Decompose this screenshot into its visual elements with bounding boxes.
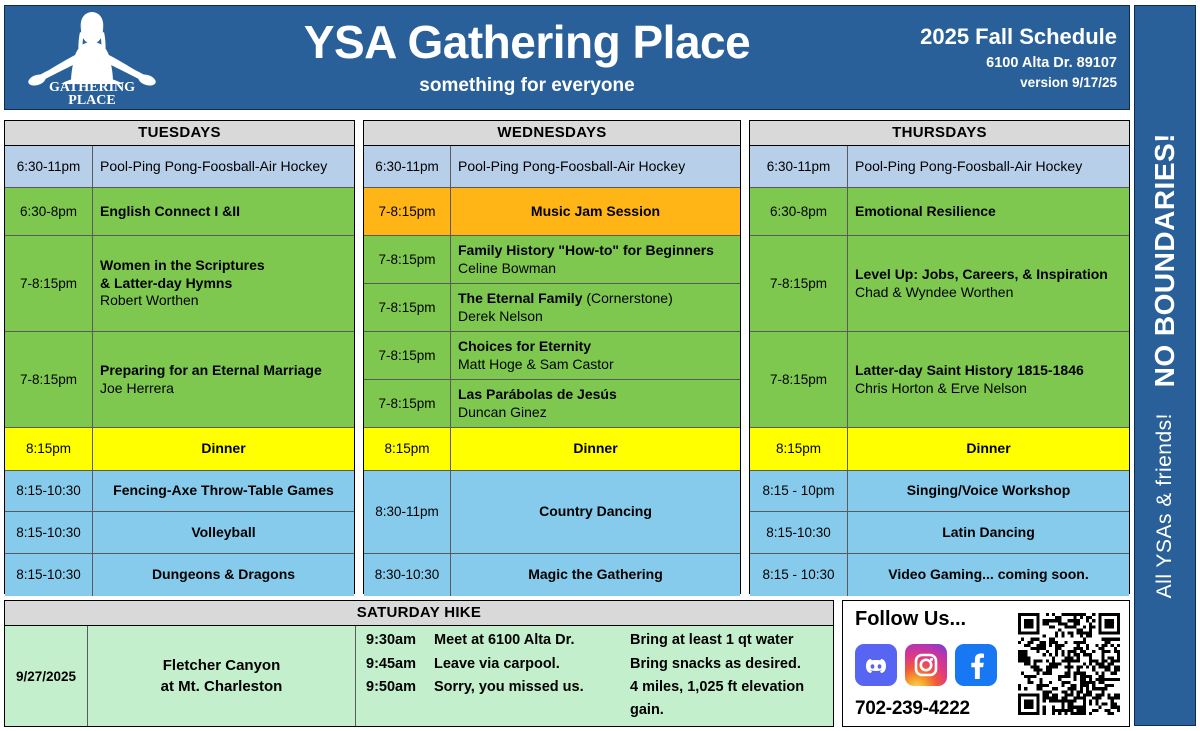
ysa-gathering-place-logo-icon: YSA GATHERING PLACE [27,8,157,108]
phone-number: 702-239-4222 [855,698,1015,720]
poster-header: YSA GATHERING PLACE YSA Gathering Place … [4,5,1130,110]
schedule-row-title: Volleyball [191,524,255,542]
hike-note-row: 9:50amSorry, you missed us.4 miles, 1,02… [366,676,827,723]
schedule-row-body: Dinner [451,428,740,470]
schedule-row-body: Preparing for an Eternal MarriageJoe Her… [93,332,354,427]
page-title: YSA Gathering Place [165,18,889,66]
header-meta: 2025 Fall Schedule 6100 Alta Dr. 89107 v… [899,23,1129,92]
schedule-row: 7-8:15pmThe Eternal Family (Cornerstone)… [364,284,740,332]
schedule-row-time: 6:30-11pm [750,146,848,187]
schedule-row-time: 8:15pm [5,428,93,470]
schedule-row-time: 7-8:15pm [5,236,93,331]
schedule-row-body: Volleyball [93,512,354,553]
schedule-row: 7-8:15pmLevel Up: Jobs, Careers, & Inspi… [750,236,1129,332]
schedule-row-title: Pool-Ping Pong-Foosball-Air Hockey [855,158,1122,176]
schedule-row-presenter: Robert Worthen [100,292,347,310]
follow-us-box: Follow Us... 702-239-4222 [842,600,1130,727]
hike-note-extra: Bring at least 1 qt water [630,629,827,652]
schedule-row: 8:15 - 10pmSinging/Voice Workshop [750,471,1129,512]
schedule-row: 8:15pmDinner [5,428,354,471]
schedule-row-time: 7-8:15pm [364,380,451,427]
version-text: version 9/17/25 [899,75,1117,92]
qr-code[interactable] [1015,613,1123,715]
schedule-row: 7-8:15pmLatter-day Saint History 1815-18… [750,332,1129,428]
schedule-row-title: Level Up: Jobs, Careers, & Inspiration [855,266,1122,284]
schedule-row-title-suffix: (Cornerstone) [582,290,672,306]
schedule-row-time: 8:15-10:30 [750,512,848,553]
schedule-row-time: 7-8:15pm [5,332,93,427]
schedule-row-time: 7-8:15pm [364,188,451,235]
schedule-row-presenter: Duncan Ginez [458,404,733,422]
schedule-row: 7-8:15pmLas Parábolas de JesúsDuncan Gin… [364,380,740,428]
hike-note-row: 9:30amMeet at 6100 Alta Dr.Bring at leas… [366,629,827,652]
schedule-row-time: 7-8:15pm [750,236,848,331]
schedule-row-body: Las Parábolas de JesúsDuncan Ginez [451,380,740,427]
schedule-row-body: Video Gaming... coming soon. [848,554,1129,596]
hike-note-text: Sorry, you missed us. [434,676,630,723]
day-header-thursdays: THURSDAYS [750,121,1129,146]
schedule-row-body: Choices for EternityMatt Hoge & Sam Cast… [451,332,740,379]
logo: YSA GATHERING PLACE [5,6,165,109]
schedule-row: 8:15 - 10:30Video Gaming... coming soon. [750,554,1129,596]
schedule-row-time: 8:15 - 10:30 [750,554,848,596]
page-subtitle: something for everyone [165,75,889,97]
schedule-poster: YSA GATHERING PLACE YSA Gathering Place … [0,0,1200,731]
schedule-row-title: Country Dancing [539,503,652,521]
schedule-row-title: Music Jam Session [531,203,660,221]
hike-header: SATURDAY HIKE [5,601,833,626]
schedule-row-title: Latter-day Saint History 1815-1846 [855,362,1122,380]
schedule-row-body: Pool-Ping Pong-Foosball-Air Hockey [848,146,1129,187]
day-column-tuesdays: TUESDAYS 6:30-11pmPool-Ping Pong-Foosbal… [4,120,355,594]
schedule-row-title: Pool-Ping Pong-Foosball-Air Hockey [458,158,733,176]
hike-note-time: 9:30am [366,629,434,652]
side-banner: NO BOUNDARIES! All YSAs & friends! [1134,5,1196,726]
schedule-row: 6:30-11pmPool-Ping Pong-Foosball-Air Hoc… [364,146,740,188]
schedule-row-title: Las Parábolas de Jesús [458,386,733,404]
schedule-row-time: 7-8:15pm [364,284,451,331]
schedule-row: 7-8:15pmFamily History "How-to" for Begi… [364,236,740,284]
hike-date: 9/27/2025 [5,626,88,726]
qr-code-icon [1018,613,1120,715]
schedule-row-body: Magic the Gathering [451,554,740,596]
hike-note-text: Leave via carpool. [434,653,630,676]
schedule-row-title: Dinner [201,440,245,458]
hike-location-line1: Fletcher Canyon [163,655,281,676]
schedule-row-title: Family History "How-to" for Beginners [458,242,733,260]
schedule-row-time: 7-8:15pm [750,332,848,427]
schedule-row-title: Choices for Eternity [458,338,733,356]
schedule-row: 8:15-10:30Fencing-Axe Throw-Table Games [5,471,354,512]
schedule-row: 8:30-11pmCountry Dancing [364,471,740,554]
schedule-row-body: Country Dancing [451,471,740,553]
schedule-row-time: 8:15pm [750,428,848,470]
day-columns: TUESDAYS 6:30-11pmPool-Ping Pong-Foosbal… [4,120,1130,594]
schedule-row: 8:15-10:30Volleyball [5,512,354,554]
schedule-row-title: The Eternal Family (Cornerstone) [458,290,733,308]
social-icons-row [855,644,1015,686]
schedule-row-body: Family History "How-to" for BeginnersCel… [451,236,740,283]
schedule-row-title: Emotional Resilience [855,203,1122,221]
schedule-row-body: Pool-Ping Pong-Foosball-Air Hockey [93,146,354,187]
day-column-thursdays: THURSDAYS 6:30-11pmPool-Ping Pong-Foosba… [749,120,1130,594]
schedule-row-title: Dinner [573,440,617,458]
schedule-row-title: Preparing for an Eternal Marriage [100,362,347,380]
hike-notes: 9:30amMeet at 6100 Alta Dr.Bring at leas… [356,626,833,726]
instagram-icon[interactable] [905,644,947,686]
schedule-row-time: 7-8:15pm [364,236,451,283]
schedule-row: 6:30-11pmPool-Ping Pong-Foosball-Air Hoc… [5,146,354,188]
schedule-row-presenter: Joe Herrera [100,380,347,398]
schedule-row-time: 8:15-10:30 [5,512,93,553]
schedule-row: 7-8:15pmPreparing for an Eternal Marriag… [5,332,354,428]
schedule-row-title: Video Gaming... coming soon. [888,566,1088,584]
logo-text-ysa: YSA [83,70,102,80]
schedule-row-time: 8:30-11pm [364,471,451,553]
side-banner-top-text: NO BOUNDARIES! [1149,133,1181,387]
hike-note-time: 9:45am [366,653,434,676]
schedule-row-body: Women in the Scriptures& Latter-day Hymn… [93,236,354,331]
schedule-row-body: Dinner [93,428,354,470]
schedule-row-presenter: Chad & Wyndee Worthen [855,284,1122,302]
schedule-row: 7-8:15pmMusic Jam Session [364,188,740,236]
schedule-row-body: Level Up: Jobs, Careers, & InspirationCh… [848,236,1129,331]
side-banner-bottom-text: All YSAs & friends! [1153,413,1177,598]
schedule-row-time: 6:30-8pm [750,188,848,235]
hike-note-time: 9:50am [366,676,434,723]
schedule-row-body: Fencing-Axe Throw-Table Games [93,471,354,511]
schedule-row-body: Dungeons & Dragons [93,554,354,596]
rows-wednesdays: 6:30-11pmPool-Ping Pong-Foosball-Air Hoc… [364,146,740,596]
day-header-wednesdays: WEDNESDAYS [364,121,740,146]
schedule-row: 8:15-10:30Dungeons & Dragons [5,554,354,596]
discord-icon[interactable] [855,644,897,686]
hike-note-text: Meet at 6100 Alta Dr. [434,629,630,652]
schedule-row-title: Magic the Gathering [528,566,663,584]
schedule-row-body: Dinner [848,428,1129,470]
hike-note-row: 9:45amLeave via carpool.Bring snacks as … [366,653,827,676]
schedule-row-body: Latter-day Saint History 1815-1846Chris … [848,332,1129,427]
hike-body: 9/27/2025 Fletcher Canyon at Mt. Charles… [5,626,833,726]
schedule-row-presenter: Celine Bowman [458,260,733,278]
schedule-row-time: 6:30-11pm [5,146,93,187]
day-column-wednesdays: WEDNESDAYS 6:30-11pmPool-Ping Pong-Foosb… [363,120,741,594]
schedule-row: 8:15pmDinner [750,428,1129,471]
schedule-row: 7-8:15pmWomen in the Scriptures& Latter-… [5,236,354,332]
schedule-row-title: Fencing-Axe Throw-Table Games [113,482,334,500]
schedule-row-body: The Eternal Family (Cornerstone)Derek Ne… [451,284,740,331]
schedule-row-time: 6:30-11pm [364,146,451,187]
schedule-row-presenter: Chris Horton & Erve Nelson [855,380,1122,398]
schedule-row-time: 6:30-8pm [5,188,93,235]
schedule-row-time: 8:15-10:30 [5,471,93,511]
schedule-row: 6:30-8pmEnglish Connect I &II [5,188,354,236]
schedule-row: 8:15pmDinner [364,428,740,471]
bottom-section: SATURDAY HIKE 9/27/2025 Fletcher Canyon … [4,600,1130,727]
schedule-row: 8:15-10:30Latin Dancing [750,512,1129,554]
follow-us-content: Follow Us... 702-239-4222 [849,605,1015,722]
rows-tuesdays: 6:30-11pmPool-Ping Pong-Foosball-Air Hoc… [5,146,354,596]
schedule-row-time: 8:15pm [364,428,451,470]
schedule-row: 6:30-8pmEmotional Resilience [750,188,1129,236]
day-header-tuesdays: TUESDAYS [5,121,354,146]
logo-text-place: PLACE [68,93,115,108]
schedule-row-title: Women in the Scriptures& Latter-day Hymn… [100,257,347,293]
schedule-row-body: English Connect I &II [93,188,354,235]
schedule-row: 6:30-11pmPool-Ping Pong-Foosball-Air Hoc… [750,146,1129,188]
address-text: 6100 Alta Dr. 89107 [899,54,1117,72]
schedule-row-presenter: Derek Nelson [458,308,733,326]
hike-note-extra: Bring snacks as desired. [630,653,827,676]
hike-location-line2: at Mt. Charleston [161,676,283,697]
schedule-row-body: Singing/Voice Workshop [848,471,1129,511]
schedule-row-title: Pool-Ping Pong-Foosball-Air Hockey [100,158,347,176]
schedule-row-body: Emotional Resilience [848,188,1129,235]
schedule-row-time: 7-8:15pm [364,332,451,379]
schedule-row-title: Latin Dancing [942,524,1035,542]
schedule-row-presenter: Matt Hoge & Sam Castor [458,356,733,374]
schedule-row-title: English Connect I &II [100,203,347,221]
title-block: YSA Gathering Place something for everyo… [165,18,899,97]
schedule-label: 2025 Fall Schedule [899,23,1117,51]
facebook-icon[interactable] [955,644,997,686]
rows-thursdays: 6:30-11pmPool-Ping Pong-Foosball-Air Hoc… [750,146,1129,596]
schedule-row-title: Dinner [966,440,1010,458]
saturday-hike-box: SATURDAY HIKE 9/27/2025 Fletcher Canyon … [4,600,834,727]
hike-location: Fletcher Canyon at Mt. Charleston [88,626,356,726]
schedule-row-title: Dungeons & Dragons [152,566,295,584]
schedule-row-body: Latin Dancing [848,512,1129,553]
hike-note-extra: 4 miles, 1,025 ft elevation gain. [630,676,827,723]
schedule-row-time: 8:15-10:30 [5,554,93,596]
follow-us-title: Follow Us... [855,608,1015,631]
schedule-row-body: Music Jam Session [451,188,740,235]
schedule-row-body: Pool-Ping Pong-Foosball-Air Hockey [451,146,740,187]
schedule-row: 7-8:15pmChoices for EternityMatt Hoge & … [364,332,740,380]
schedule-row-time: 8:15 - 10pm [750,471,848,511]
schedule-row-title: Singing/Voice Workshop [907,482,1071,500]
schedule-row: 8:30-10:30Magic the Gathering [364,554,740,596]
schedule-row-time: 8:30-10:30 [364,554,451,596]
